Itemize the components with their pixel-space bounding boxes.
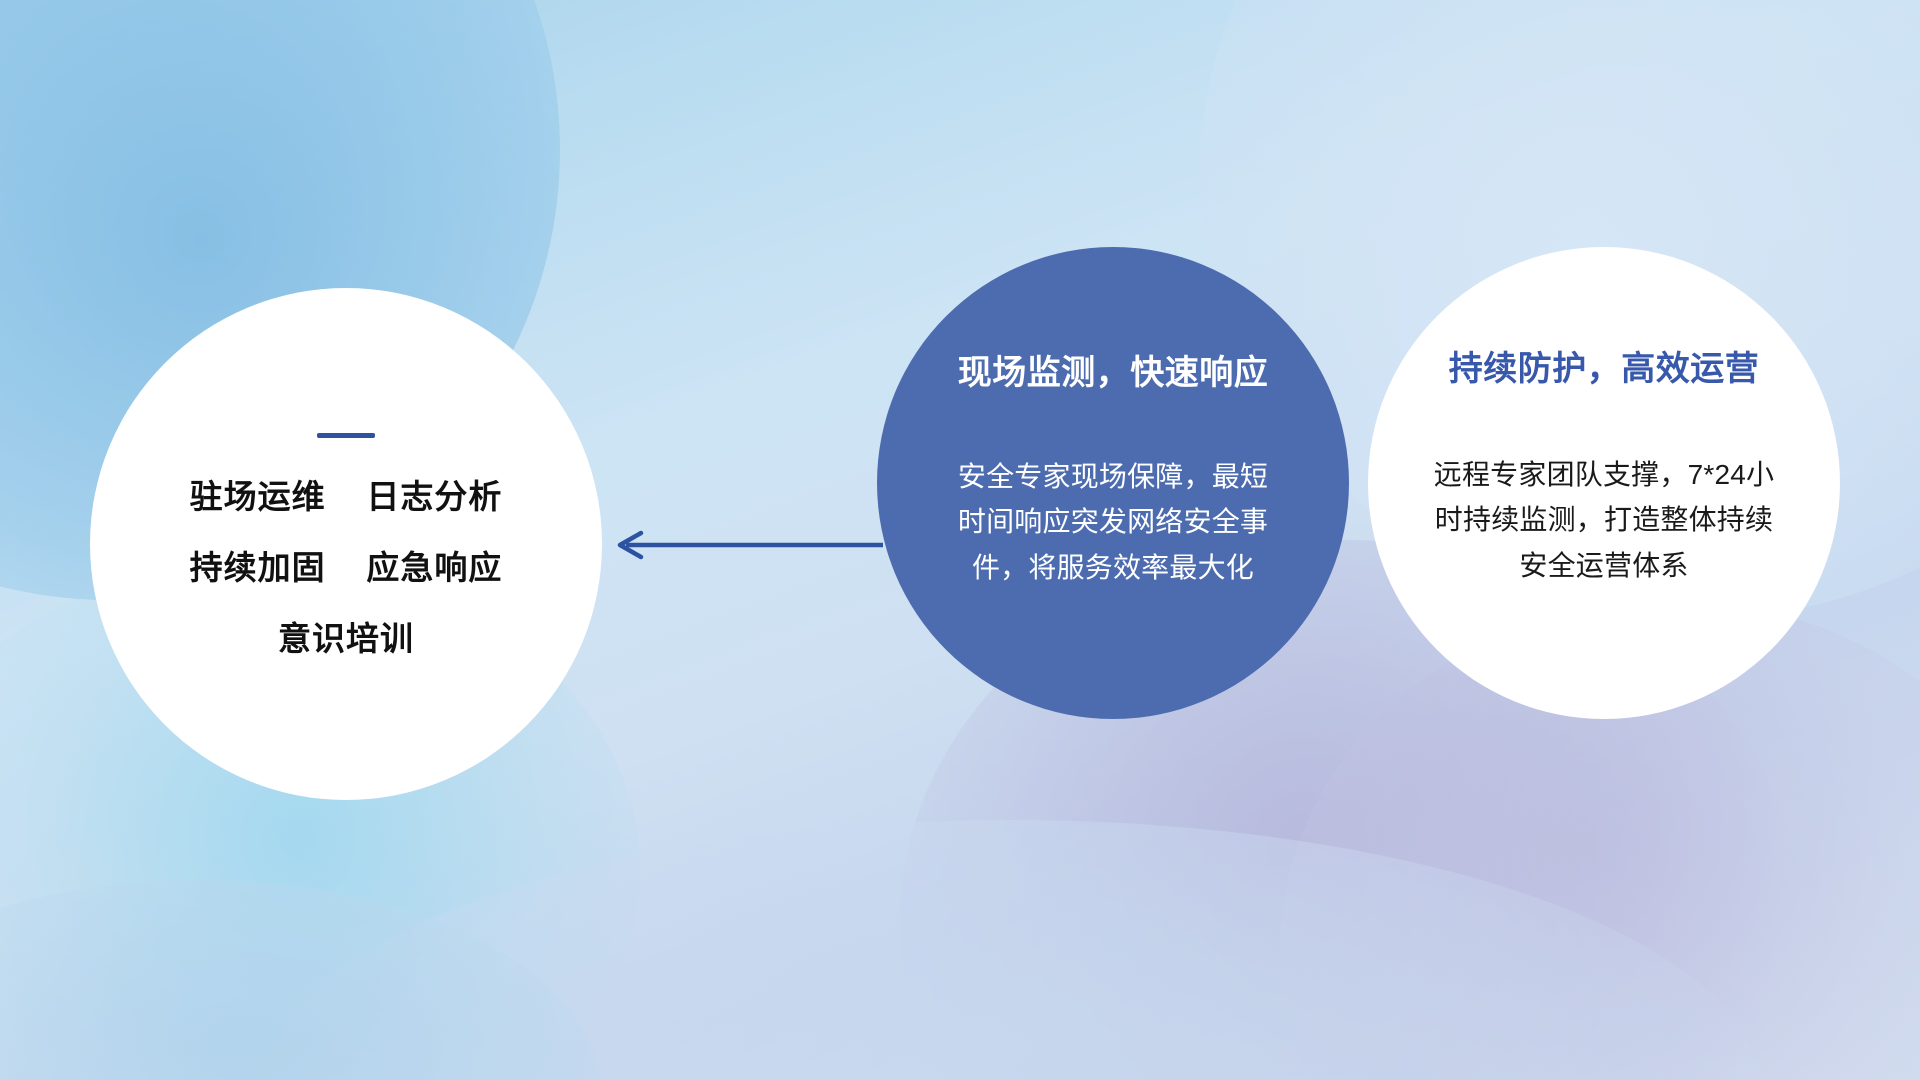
left-circle-line-1: 驻场运维 日志分析 [190, 480, 503, 513]
left-circle-line-3: 意识培训 [278, 622, 414, 655]
onsite-monitoring-body: 安全专家现场保障，最短时间响应突发网络安全事件，将服务效率最大化 [948, 454, 1278, 590]
onsite-monitoring-title: 现场监测，快速响应 [958, 345, 1269, 394]
slide-canvas: 驻场运维 日志分析 持续加固 应急响应 意识培训 现场监测，快速响应 安全专家现… [0, 0, 1920, 1080]
background-blob-bottom-left [0, 880, 600, 1080]
background-blob-bottom [260, 820, 1760, 1080]
continuous-protection-body: 远程专家团队支撑，7*24小时持续监测，打造整体持续安全运营体系 [1423, 452, 1785, 588]
left-arrow-icon [608, 528, 883, 562]
continuous-protection-title: 持续防护，高效运营 [1449, 341, 1760, 390]
divider-dash-icon [317, 433, 375, 438]
continuous-protection-circle: 持续防护，高效运营 远程专家团队支撑，7*24小时持续监测，打造整体持续安全运营… [1368, 247, 1840, 719]
left-services-circle: 驻场运维 日志分析 持续加固 应急响应 意识培训 [90, 288, 602, 800]
onsite-monitoring-circle: 现场监测，快速响应 安全专家现场保障，最短时间响应突发网络安全事件，将服务效率最… [877, 247, 1349, 719]
left-circle-line-2: 持续加固 应急响应 [190, 551, 503, 584]
